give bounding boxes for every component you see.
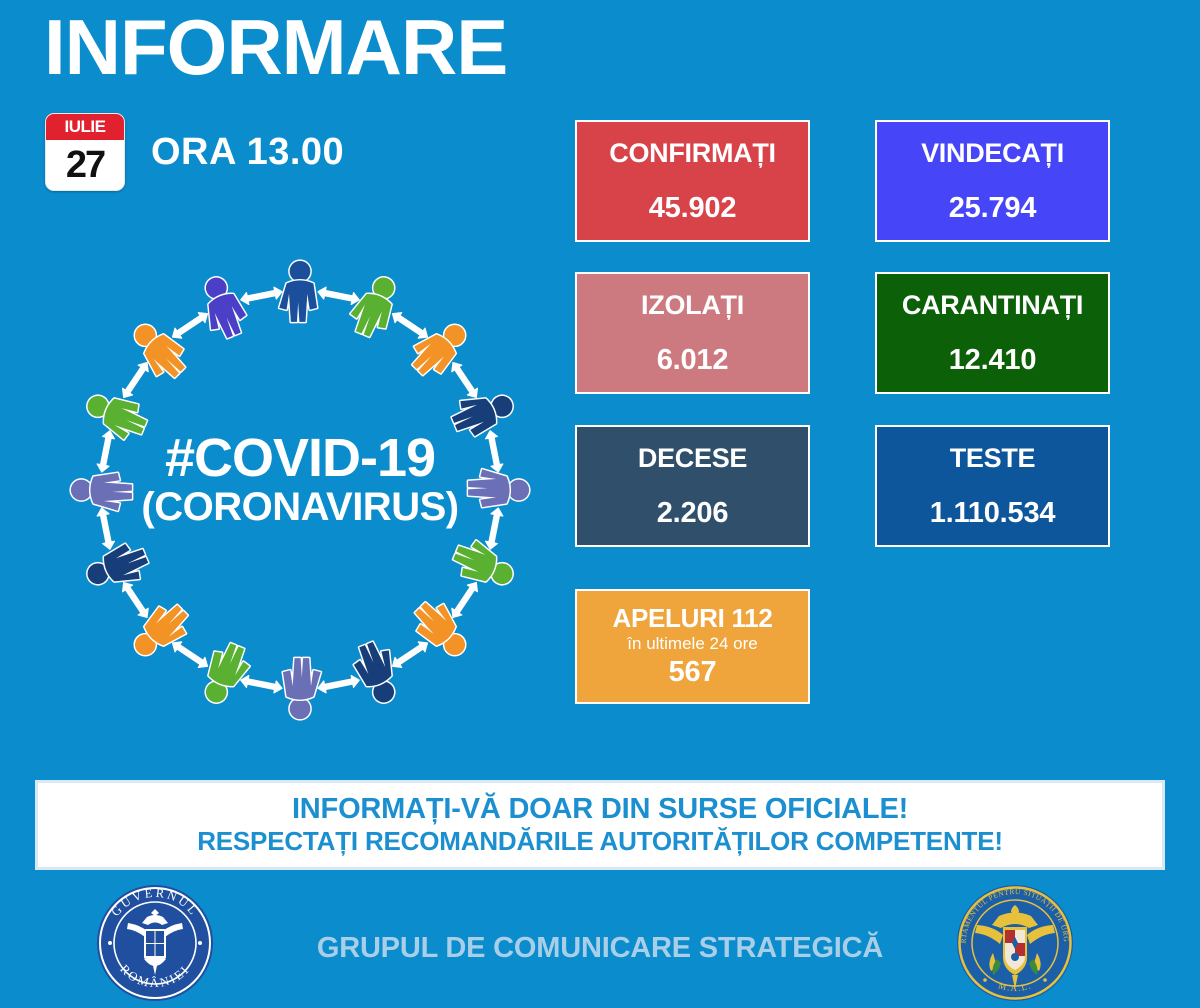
person-icon (449, 535, 520, 593)
distance-arrow-icon (96, 430, 116, 474)
stat-box-confirmati[interactable]: CONFIRMAȚI 45.902 (575, 120, 810, 242)
stat-label-teste: TESTE (950, 444, 1036, 472)
distance-arrow-icon (389, 309, 431, 342)
stat-box-izolati[interactable]: IZOLAȚI 6.012 (575, 272, 810, 394)
calendar-day: 27 (46, 140, 124, 190)
person-icon (82, 539, 153, 597)
people-distancing-circle-icon: #COVID-19 (CORONAVIRUS) (55, 245, 545, 735)
distance-arrow-icon (484, 507, 504, 551)
dsu-mai-seal-icon: DEPARTAMENTUL PENTRU SITUAȚII DE URGENȚĂ… (955, 883, 1075, 1003)
stat-sublabel-apeluri: în ultimele 24 ore (627, 635, 757, 654)
stat-value-teste: 1.110.534 (930, 498, 1056, 528)
stat-box-vindecati[interactable]: VINDECAȚI 25.794 (875, 120, 1110, 242)
distancing-svg (55, 245, 545, 735)
distance-arrow-icon (240, 286, 284, 306)
advisory-line-2: RESPECTAȚI RECOMANDĂRILE AUTORITĂȚILOR C… (197, 827, 1003, 857)
stat-value-confirmati: 45.902 (649, 193, 737, 223)
advisory-banner: INFORMAȚI-VĂ DOAR DIN SURSE OFICIALE! RE… (35, 780, 1165, 870)
distance-arrow-icon (240, 674, 284, 694)
stat-label-izolati: IZOLAȚI (641, 291, 744, 319)
footer-title: GRUPUL DE COMUNICARE STRATEGICĂ (250, 932, 950, 965)
person-icon (447, 383, 518, 441)
guvernul-romaniei-seal-icon: GUVERNUL ROMÂNIEI (95, 883, 215, 1003)
stat-box-teste[interactable]: TESTE 1.110.534 (875, 425, 1110, 547)
person-icon (283, 658, 321, 719)
stat-value-decese: 2.206 (657, 498, 729, 528)
stat-value-vindecati: 25.794 (949, 193, 1037, 223)
distance-arrow-icon (448, 359, 481, 401)
calendar-icon: IULIE 27 (45, 113, 125, 191)
footer: GUVERNUL ROMÂNIEI (0, 880, 1200, 1007)
infographic-canvas: INFORMARE IULIE 27 ORA 13.00 #COVID-19 (… (0, 0, 1200, 1007)
stat-value-izolati: 6.012 (657, 345, 729, 375)
distance-arrow-icon (119, 359, 152, 401)
date-time-bar: IULIE 27 ORA 13.00 (45, 113, 344, 191)
stat-label-apeluri: APELURI 112 (613, 605, 773, 632)
distance-arrow-icon (96, 507, 116, 551)
person-icon (468, 469, 529, 507)
stat-label-decese: DECESE (638, 444, 747, 472)
person-icon (349, 637, 407, 708)
person-icon (279, 261, 317, 322)
stat-box-decese[interactable]: DECESE 2.206 (575, 425, 810, 547)
person-icon (80, 387, 151, 445)
calendar-month: IULIE (46, 114, 124, 140)
person-icon (197, 639, 255, 710)
distance-arrow-icon (119, 579, 152, 621)
distance-arrow-icon (484, 430, 504, 474)
person-icon (193, 272, 251, 343)
stat-label-carantinati: CARANTINAȚI (902, 291, 1083, 319)
distance-arrow-icon (389, 638, 431, 671)
stat-value-carantinati: 12.410 (949, 345, 1037, 375)
page-title: INFORMARE (44, 8, 507, 86)
distance-arrow-icon (317, 674, 361, 694)
advisory-line-1: INFORMAȚI-VĂ DOAR DIN SURSE OFICIALE! (292, 793, 908, 826)
stat-label-vindecati: VINDECAȚI (921, 139, 1064, 167)
distance-arrow-icon (169, 309, 211, 342)
report-hour: ORA 13.00 (151, 131, 344, 174)
stat-box-apeluri[interactable]: APELURI 112 în ultimele 24 ore 567 (575, 589, 810, 704)
stat-label-confirmati: CONFIRMAȚI (609, 139, 775, 167)
distance-arrow-icon (448, 579, 481, 621)
stat-value-apeluri: 567 (669, 657, 717, 687)
distance-arrow-icon (317, 286, 361, 306)
distance-arrow-icon (169, 638, 211, 671)
person-icon (345, 270, 403, 341)
stat-box-carantinati[interactable]: CARANTINAȚI 12.410 (875, 272, 1110, 394)
person-icon (71, 473, 132, 511)
